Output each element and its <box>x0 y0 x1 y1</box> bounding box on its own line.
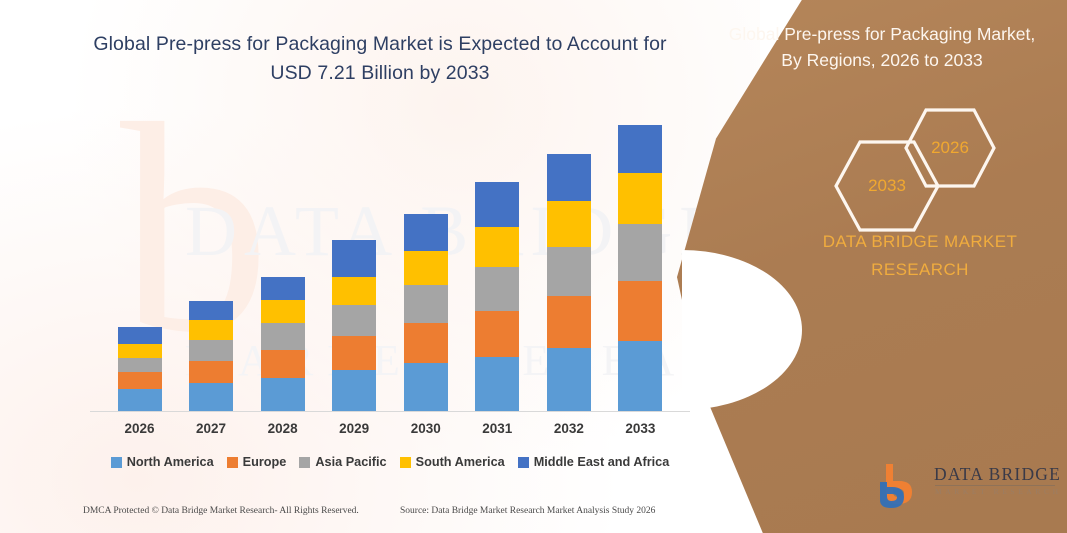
bar-segment <box>618 281 662 340</box>
legend-swatch-icon <box>518 457 529 468</box>
legend-label: Middle East and Africa <box>534 455 670 469</box>
bar-column-2033 <box>609 110 672 411</box>
panel-title: Global Pre-press for Packaging Market, B… <box>717 22 1047 73</box>
bar-segment <box>189 340 233 361</box>
bar-segment <box>475 311 519 357</box>
bar-segment <box>189 320 233 340</box>
x-axis-label-2032: 2032 <box>537 421 600 436</box>
infographic-root: b DATA BRIDGE MARKET RESEARCH Global Pre… <box>0 0 1067 533</box>
bar-column-2032 <box>537 110 600 411</box>
stacked-bar[interactable] <box>404 214 448 411</box>
bar-segment <box>475 357 519 411</box>
bar-segment <box>261 350 305 379</box>
bar-segment <box>118 372 162 389</box>
bar-column-2026 <box>108 110 171 411</box>
bar-segment <box>261 378 305 411</box>
logo-wordmark: DATA BRIDGE <box>934 464 1061 485</box>
bar-segment <box>547 154 591 201</box>
legend-item-europe[interactable]: Europe <box>227 455 287 469</box>
x-axis-label-2026: 2026 <box>108 421 171 436</box>
hexagon-group: 2026 2033 <box>816 108 1006 228</box>
page-title: Global Pre-press for Packaging Market is… <box>90 30 670 88</box>
chart-legend: North AmericaEuropeAsia PacificSouth Ame… <box>90 455 690 469</box>
stacked-bar-chart <box>90 110 690 412</box>
x-axis-label-2029: 2029 <box>323 421 386 436</box>
bar-segment <box>118 389 162 411</box>
bar-segment <box>475 182 519 227</box>
footer-source: Source: Data Bridge Market Research Mark… <box>400 506 655 516</box>
x-axis-labels: 20262027202820292030203120322033 <box>90 421 690 436</box>
x-axis-label-2028: 2028 <box>251 421 314 436</box>
bar-segment <box>404 214 448 250</box>
panel-brand-text: DATA BRIDGE MARKET RESEARCH <box>790 228 1050 283</box>
legend-label: Europe <box>243 455 287 469</box>
bar-segment <box>332 336 376 370</box>
stacked-bar[interactable] <box>332 240 376 411</box>
legend-item-south-america[interactable]: South America <box>400 455 505 469</box>
bar-segment <box>618 125 662 172</box>
bar-segment <box>261 300 305 323</box>
bar-segment <box>189 383 233 411</box>
bar-segment <box>404 251 448 285</box>
bar-segment <box>118 327 162 344</box>
legend-swatch-icon <box>400 457 411 468</box>
stacked-bar[interactable] <box>261 277 305 411</box>
panel-brand-line2: RESEARCH <box>790 256 1050 284</box>
data-bridge-logo: DATA BRIDGE MARKET RESEARCH <box>878 458 1058 510</box>
bar-segment <box>547 201 591 247</box>
bar-column-2028 <box>251 110 314 411</box>
bar-segment <box>118 344 162 358</box>
bar-segment <box>404 323 448 363</box>
logo-tagline: MARKET RESEARCH <box>935 487 1062 496</box>
bar-segment <box>618 173 662 224</box>
left-chart-panel: b DATA BRIDGE MARKET RESEARCH Global Pre… <box>0 0 760 533</box>
stacked-bar[interactable] <box>618 125 662 411</box>
stacked-bar[interactable] <box>475 182 519 411</box>
bar-segment <box>261 277 305 300</box>
x-axis-label-2031: 2031 <box>466 421 529 436</box>
data-bridge-logo-mark-icon <box>878 460 930 508</box>
bar-segment <box>547 296 591 349</box>
bar-segment <box>189 361 233 383</box>
legend-swatch-icon <box>299 457 310 468</box>
legend-swatch-icon <box>227 457 238 468</box>
bar-segment <box>332 305 376 336</box>
bar-segment <box>118 358 162 372</box>
legend-label: South America <box>416 455 505 469</box>
legend-item-asia-pacific[interactable]: Asia Pacific <box>299 455 386 469</box>
stacked-bar[interactable] <box>547 154 591 411</box>
footer: DMCA Protected © Data Bridge Market Rese… <box>0 506 700 528</box>
x-axis-label-2033: 2033 <box>609 421 672 436</box>
bar-segment <box>618 341 662 411</box>
bar-segment <box>404 285 448 323</box>
bar-segment <box>547 348 591 411</box>
bar-segment <box>261 323 305 350</box>
bar-segment <box>618 224 662 281</box>
legend-label: North America <box>127 455 214 469</box>
hexagon-2033-label: 2033 <box>868 176 906 196</box>
bar-segment <box>404 363 448 411</box>
bar-column-2030 <box>394 110 457 411</box>
panel-brand-line1: DATA BRIDGE MARKET <box>790 228 1050 256</box>
bar-column-2027 <box>180 110 243 411</box>
legend-item-middle-east-and-africa[interactable]: Middle East and Africa <box>518 455 670 469</box>
logo-divider <box>935 485 1055 486</box>
bar-segment <box>547 247 591 295</box>
stacked-bar[interactable] <box>118 327 162 411</box>
legend-label: Asia Pacific <box>315 455 386 469</box>
bar-segment <box>332 277 376 306</box>
bar-segment <box>332 240 376 276</box>
footer-copyright: DMCA Protected © Data Bridge Market Rese… <box>83 506 359 516</box>
x-axis-label-2030: 2030 <box>394 421 457 436</box>
bar-column-2029 <box>323 110 386 411</box>
bar-segment <box>332 370 376 411</box>
x-axis-label-2027: 2027 <box>180 421 243 436</box>
chart-bars <box>90 110 690 411</box>
stacked-bar[interactable] <box>189 301 233 411</box>
x-axis-line <box>90 411 690 412</box>
bar-segment <box>189 301 233 321</box>
bar-column-2031 <box>466 110 529 411</box>
hexagon-2033: 2033 <box>832 138 942 234</box>
bar-segment <box>475 267 519 311</box>
bar-segment <box>475 227 519 267</box>
legend-swatch-icon <box>111 457 122 468</box>
legend-item-north-america[interactable]: North America <box>111 455 214 469</box>
